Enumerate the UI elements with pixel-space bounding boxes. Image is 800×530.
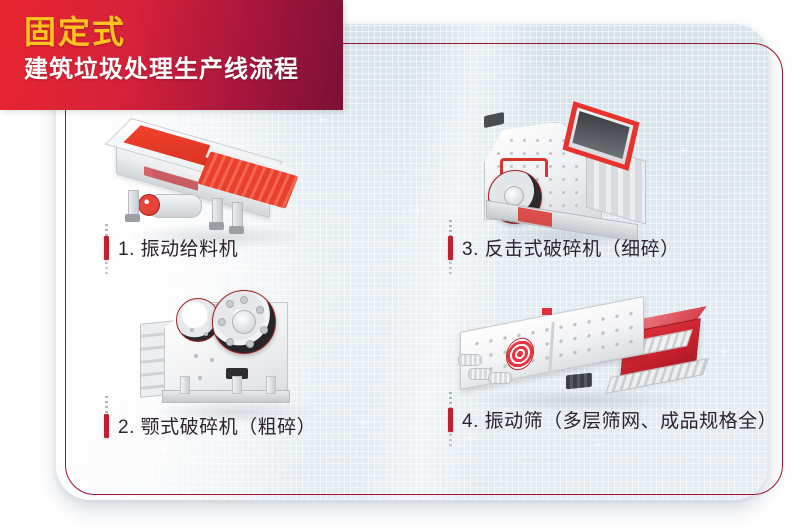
step-3-label: 3. 反击式破碎机（细碎） [462, 234, 680, 261]
step-4-caption: 4. 振动筛（多层筛网、成品规格全） [448, 406, 777, 433]
step-4-label: 4. 振动筛（多层筛网、成品规格全） [462, 406, 777, 433]
step-accent-bar [104, 414, 109, 438]
infographic-stage: 1. 振动给料机 [0, 0, 800, 530]
step-4: 4. 振动筛（多层筛网、成品规格全） [448, 292, 798, 452]
step-1: 1. 振动给料机 [104, 128, 404, 278]
title-banner: 固定式 建筑垃圾处理生产线流程 [0, 0, 343, 110]
step-accent-bar [448, 236, 453, 260]
step-accent-bar [448, 408, 453, 432]
step-connector-dots-below [449, 434, 452, 448]
vibrating-feeder-icon [108, 128, 308, 228]
sparkle-icon [74, 120, 90, 136]
impact-crusher-icon [470, 100, 660, 240]
step-accent-bar [104, 236, 109, 260]
step-connector-dots-below [449, 262, 452, 276]
step-1-label: 1. 振动给料机 [118, 234, 238, 261]
vibrating-screen-icon [454, 292, 716, 402]
banner-title-primary: 固定式 [24, 16, 126, 48]
step-2-label: 2. 颚式破碎机（粗碎） [118, 412, 316, 439]
step-2-caption: 2. 颚式破碎机（粗碎） [104, 412, 316, 439]
sparkle-icon [78, 324, 92, 338]
step-3-caption: 3. 反击式破碎机（细碎） [448, 234, 680, 261]
step-1-caption: 1. 振动给料机 [104, 234, 238, 261]
step-3: 3. 反击式破碎机（细碎） [448, 100, 788, 280]
sparkle-icon [156, 442, 170, 456]
step-2: 2. 颚式破碎机（粗碎） [104, 272, 434, 442]
jaw-crusher-icon [140, 272, 320, 407]
sparkle-icon [314, 112, 330, 128]
sparkle-icon [408, 200, 428, 220]
banner-title-secondary: 建筑垃圾处理生产线流程 [24, 58, 299, 82]
